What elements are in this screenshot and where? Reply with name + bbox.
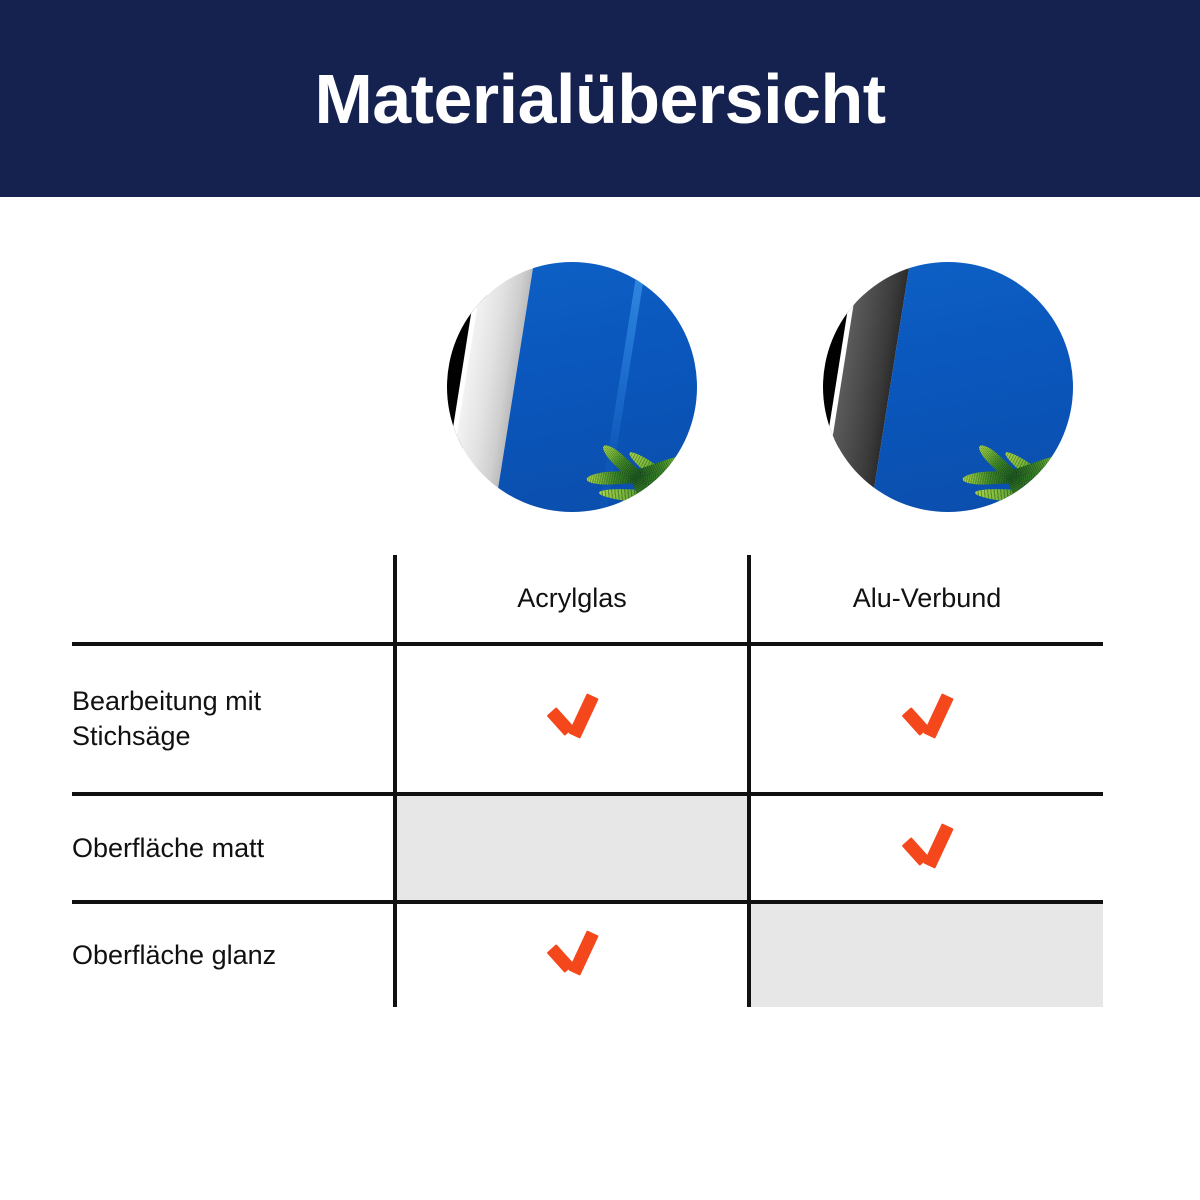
row-label-line1: Oberfläche glanz <box>72 940 276 970</box>
cell-bearbeitung-acrylglas[interactable] <box>395 644 749 794</box>
row-label-bearbeitung: Bearbeitung mit Stichsäge <box>72 644 395 794</box>
thumbnail-row <box>0 262 1200 512</box>
empty-marker <box>927 963 928 964</box>
check-icon <box>900 824 954 866</box>
gloss-reflection-secondary <box>695 262 697 419</box>
table-row: Oberfläche glanz <box>72 902 1103 1007</box>
check-icon <box>545 931 599 973</box>
row-label-line1: Oberfläche matt <box>72 833 264 863</box>
table-row: Bearbeitung mit Stichsäge <box>72 644 1103 794</box>
alu-verbund-scene <box>823 262 1073 512</box>
acrylglas-thumbnail[interactable] <box>447 262 697 512</box>
table-header-row: Acrylglas Alu-Verbund <box>72 555 1103 644</box>
material-comparison-table: Acrylglas Alu-Verbund Bearbeitung mit St… <box>72 555 1103 1007</box>
row-label-line2: Stichsäge <box>72 721 191 751</box>
column-header-acrylglas: Acrylglas <box>395 555 749 644</box>
row-label-oberflaeche-glanz: Oberfläche glanz <box>72 902 395 1007</box>
header-banner: Materialübersicht <box>0 0 1200 197</box>
row-label-oberflaeche-matt: Oberfläche matt <box>72 794 395 903</box>
matrix-table: Acrylglas Alu-Verbund Bearbeitung mit St… <box>72 555 1103 1007</box>
column-header-alu-verbund: Alu-Verbund <box>749 555 1103 644</box>
acrylglas-scene <box>447 262 697 512</box>
page-title: Materialübersicht <box>314 64 885 134</box>
cell-glanz-alu-verbund[interactable] <box>749 902 1103 1007</box>
table-row: Oberfläche matt <box>72 794 1103 903</box>
acrylglas-panel <box>447 262 697 512</box>
alu-verbund-thumbnail[interactable] <box>823 262 1073 512</box>
row-label-line1: Bearbeitung mit <box>72 686 261 716</box>
check-icon <box>545 694 599 736</box>
cell-matt-acrylglas[interactable] <box>395 794 749 903</box>
header-corner-blank <box>72 555 395 644</box>
cell-matt-alu-verbund[interactable] <box>749 794 1103 903</box>
alu-verbund-panel <box>823 262 1073 512</box>
cell-bearbeitung-alu-verbund[interactable] <box>749 644 1103 794</box>
check-icon <box>900 694 954 736</box>
empty-marker <box>572 856 573 857</box>
cell-glanz-acrylglas[interactable] <box>395 902 749 1007</box>
